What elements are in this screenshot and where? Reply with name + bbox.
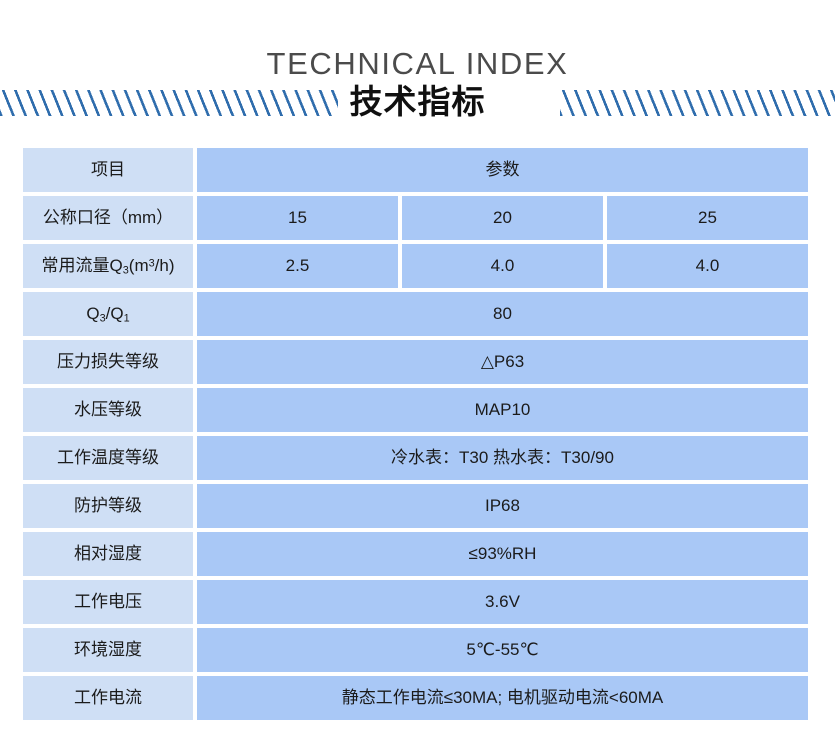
spec-label-cell: 压力损失等级 [23, 340, 193, 384]
spec-value-cell: 5℃-55℃ [197, 628, 808, 672]
spec-label-cell: 工作电流 [23, 676, 193, 720]
spec-value-cell: 4.0 [607, 244, 808, 288]
spec-value-cell: 3.6V [197, 580, 808, 624]
table-row: 防护等级IP68 [23, 484, 808, 528]
spec-value-cell: 15 [197, 196, 398, 240]
spec-value-cell: 20 [402, 196, 603, 240]
page-title-chinese: 技术指标 [0, 83, 835, 121]
spec-value-cell: MAP10 [197, 388, 808, 432]
spec-label-cell: 常用流量Q3(m3/h) [23, 244, 193, 288]
table-row: 水压等级MAP10 [23, 388, 808, 432]
specification-table-body: 项目参数公称口径（mm）152025常用流量Q3(m3/h)2.54.04.0Q… [23, 148, 808, 720]
table-row: 环境湿度5℃-55℃ [23, 628, 808, 672]
page-header: TECHNICAL INDEX 技术指标 [0, 0, 835, 130]
spec-label-cell: 环境湿度 [23, 628, 193, 672]
spec-value-cell: IP68 [197, 484, 808, 528]
technical-specification-table: 项目参数公称口径（mm）152025常用流量Q3(m3/h)2.54.04.0Q… [19, 144, 812, 724]
table-row: 常用流量Q3(m3/h)2.54.04.0 [23, 244, 808, 288]
spec-value-cell: ≤93%RH [197, 532, 808, 576]
table-row: Q3/Q180 [23, 292, 808, 336]
table-header-row: 项目参数 [23, 148, 808, 192]
spec-value-cell: 25 [607, 196, 808, 240]
spec-label-cell: 公称口径（mm） [23, 196, 193, 240]
table-header-item-cell: 项目 [23, 148, 193, 192]
spec-label-cell: 工作温度等级 [23, 436, 193, 480]
spec-label-cell: 防护等级 [23, 484, 193, 528]
spec-label-cell: 水压等级 [23, 388, 193, 432]
spec-label-cell: 工作电压 [23, 580, 193, 624]
table-row: 工作电流静态工作电流≤30MA; 电机驱动电流<60MA [23, 676, 808, 720]
spec-value-cell: 静态工作电流≤30MA; 电机驱动电流<60MA [197, 676, 808, 720]
page-title-english: TECHNICAL INDEX [0, 46, 835, 82]
spec-value-cell: △P63 [197, 340, 808, 384]
table-row: 公称口径（mm）152025 [23, 196, 808, 240]
spec-value-cell: 冷水表：T30 热水表：T30/90 [197, 436, 808, 480]
spec-value-cell: 80 [197, 292, 808, 336]
spec-value-cell: 2.5 [197, 244, 398, 288]
table-row: 相对湿度≤93%RH [23, 532, 808, 576]
spec-value-cell: 4.0 [402, 244, 603, 288]
table-row: 工作温度等级冷水表：T30 热水表：T30/90 [23, 436, 808, 480]
table-row: 工作电压3.6V [23, 580, 808, 624]
table-header-parameter-cell: 参数 [197, 148, 808, 192]
spec-label-cell: 相对湿度 [23, 532, 193, 576]
spec-label-cell: Q3/Q1 [23, 292, 193, 336]
table-row: 压力损失等级△P63 [23, 340, 808, 384]
